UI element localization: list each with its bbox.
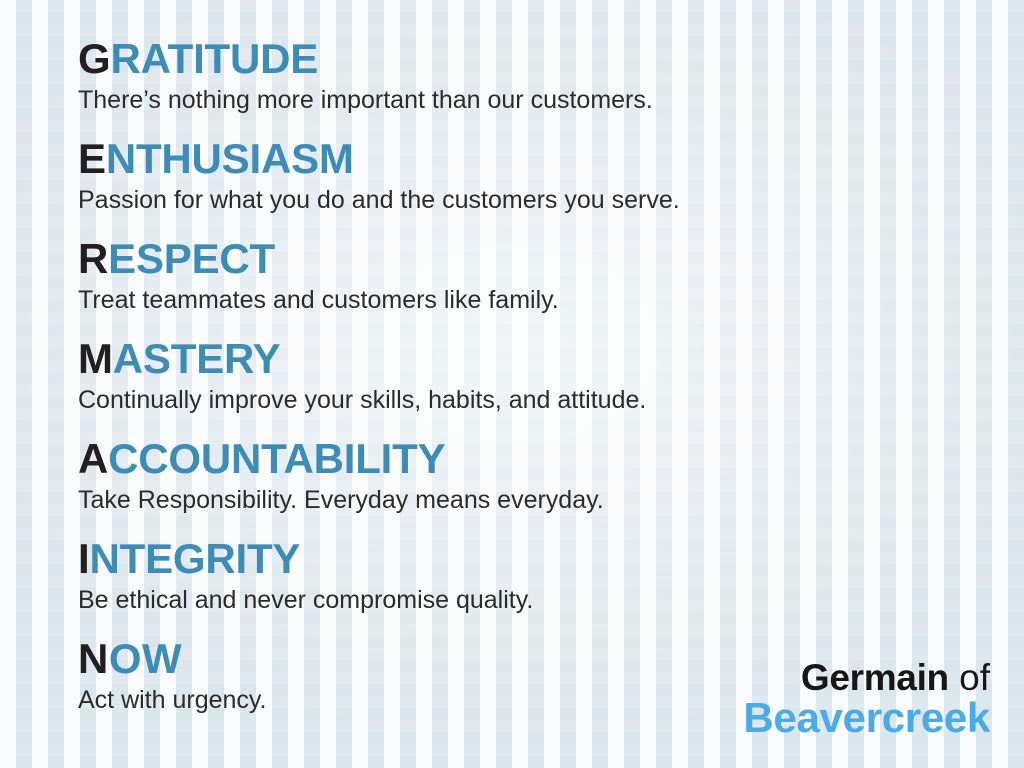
value-block-integrity: INTEGRITY Be ethical and never compromis… [78, 536, 1024, 636]
value-description-enthusiasm: Passion for what you do and the customer… [78, 185, 1024, 215]
values-list: GRATITUDE There’s nothing more important… [78, 36, 1024, 736]
value-heading-accountability: ACCOUNTABILITY [78, 436, 1024, 482]
dealership-logo: Germain of Beavercreek [743, 659, 990, 740]
value-description-respect: Treat teammates and customers like famil… [78, 285, 1024, 315]
value-heading-rest: ASTERY [113, 335, 281, 382]
value-initial-letter: R [78, 235, 108, 282]
value-description-accountability: Take Responsibility. Everyday means ever… [78, 485, 1024, 515]
value-block-mastery: MASTERY Continually improve your skills,… [78, 336, 1024, 436]
value-initial-letter: G [78, 35, 110, 82]
logo-location-name: Beavercreek [743, 697, 990, 740]
value-description-gratitude: There’s nothing more important than our … [78, 85, 1024, 115]
value-description-integrity: Be ethical and never compromise quality. [78, 585, 1024, 615]
value-heading-rest: CCOUNTABILITY [108, 435, 445, 482]
value-heading-mastery: MASTERY [78, 336, 1024, 382]
value-block-gratitude: GRATITUDE There’s nothing more important… [78, 36, 1024, 136]
value-initial-letter: M [78, 335, 113, 382]
logo-line-primary: Germain of [743, 659, 990, 697]
value-heading-rest: NTHUSIASM [106, 135, 354, 182]
value-heading-rest: OW [109, 635, 182, 682]
value-heading-rest: ESPECT [108, 235, 275, 282]
value-initial-letter: I [78, 535, 89, 582]
value-heading-respect: RESPECT [78, 236, 1024, 282]
value-heading-rest: NTEGRITY [89, 535, 300, 582]
value-heading-gratitude: GRATITUDE [78, 36, 1024, 82]
value-initial-letter: A [78, 435, 108, 482]
value-heading-rest: RATITUDE [110, 35, 318, 82]
value-description-mastery: Continually improve your skills, habits,… [78, 385, 1024, 415]
value-heading-integrity: INTEGRITY [78, 536, 1024, 582]
value-heading-enthusiasm: ENTHUSIASM [78, 136, 1024, 182]
logo-brand-name: Germain [801, 657, 949, 698]
logo-connector-word: of [959, 657, 990, 698]
value-block-accountability: ACCOUNTABILITY Take Responsibility. Ever… [78, 436, 1024, 536]
values-slide: GRATITUDE There’s nothing more important… [0, 0, 1024, 768]
value-block-enthusiasm: ENTHUSIASM Passion for what you do and t… [78, 136, 1024, 236]
value-initial-letter: E [78, 135, 106, 182]
value-block-respect: RESPECT Treat teammates and customers li… [78, 236, 1024, 336]
value-initial-letter: N [78, 635, 109, 682]
